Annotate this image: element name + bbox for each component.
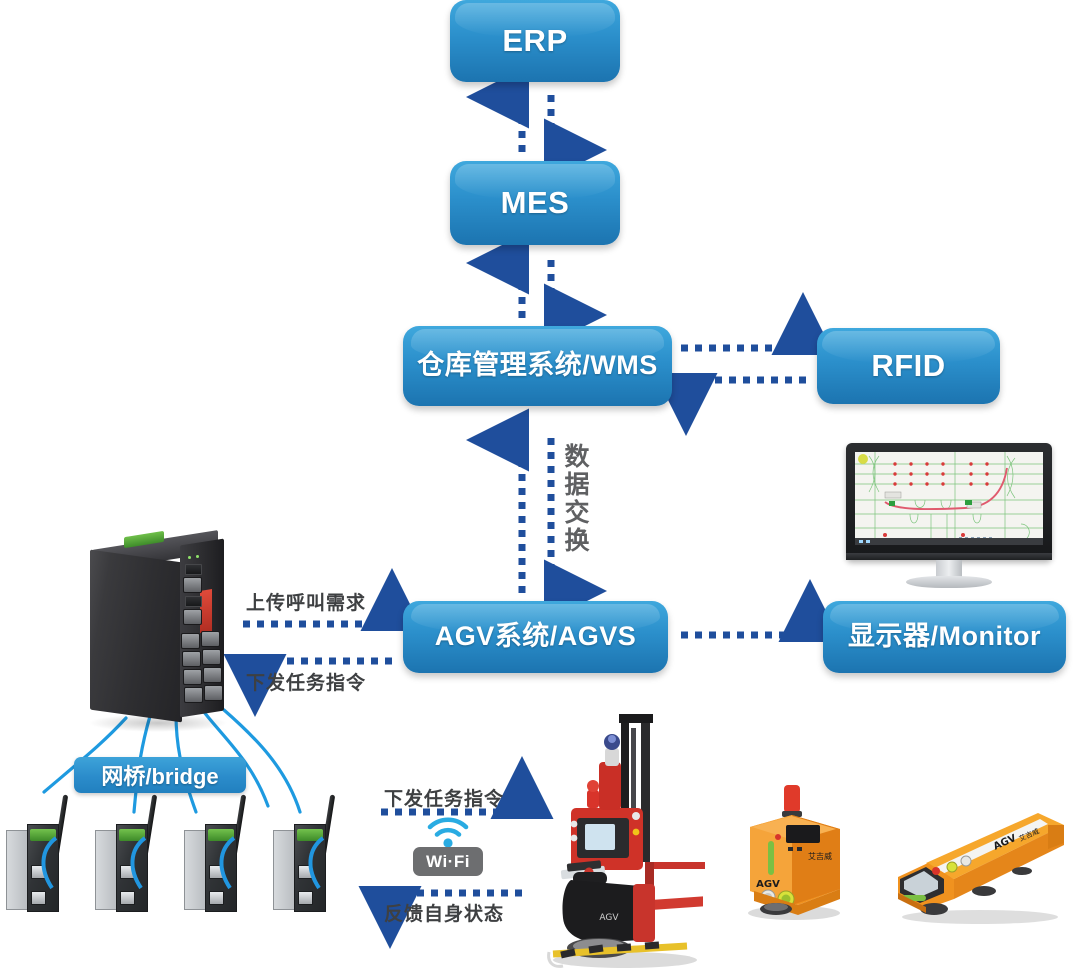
agv-tunnel-vehicle: AGV 艾吉威 bbox=[888, 805, 1068, 925]
node-bridge-label: 网桥/bridge bbox=[101, 759, 218, 791]
agv-tunnel-art: AGV 艾吉威 bbox=[888, 805, 1068, 925]
ap-rj45-2 bbox=[298, 891, 313, 905]
label-dispatch-task-left: 下发任务指令 bbox=[246, 668, 366, 695]
switch-rj45-6 bbox=[203, 667, 222, 683]
switch-rj45-3 bbox=[182, 651, 201, 667]
svg-text:AGV: AGV bbox=[756, 879, 780, 890]
switch-rj45-4 bbox=[202, 649, 221, 665]
wireless-access-point-1 bbox=[6, 818, 64, 910]
switch-rj45-top-2 bbox=[183, 609, 202, 625]
node-erp[interactable]: ERP bbox=[450, 0, 620, 82]
label-upload-call-request: 上传呼叫需求 bbox=[246, 588, 366, 615]
node-wms-label: 仓库管理系统/WMS bbox=[417, 351, 658, 381]
ap-cable bbox=[36, 836, 60, 890]
node-bridge[interactable]: 网桥/bridge bbox=[74, 757, 246, 793]
switch-sfp-port-1 bbox=[185, 564, 202, 575]
switch-status-led-1 bbox=[188, 556, 191, 559]
agv-tug-art: AGV 艾吉威 bbox=[736, 783, 851, 920]
switch-side-panel bbox=[90, 550, 182, 723]
node-rfid[interactable]: RFID bbox=[817, 328, 1000, 404]
monitor-stand-base bbox=[906, 576, 992, 588]
monitor-device bbox=[840, 443, 1058, 593]
switch-rj45-top-1 bbox=[183, 577, 202, 593]
node-mes-label: MES bbox=[501, 186, 570, 220]
label-data-exchange: 数据交换 bbox=[556, 443, 588, 555]
node-agvs-label: AGV系统/AGVS bbox=[435, 622, 637, 652]
node-erp-label: ERP bbox=[502, 24, 567, 58]
wireless-access-point-3 bbox=[184, 818, 242, 910]
wifi-icon bbox=[424, 814, 472, 848]
industrial-switch-device bbox=[82, 534, 232, 724]
svg-text:艾吉威: 艾吉威 bbox=[808, 851, 832, 861]
label-dispatch-task-wifi: 下发任务指令 bbox=[384, 784, 504, 811]
agv-forklift: AGV bbox=[537, 712, 712, 970]
agv-forklift-art: AGV bbox=[537, 712, 712, 970]
ap-rj45-2 bbox=[120, 891, 135, 905]
switch-rj45-8 bbox=[204, 685, 223, 701]
monitor-taskbar bbox=[846, 553, 1052, 560]
node-wms[interactable]: 仓库管理系统/WMS bbox=[403, 326, 672, 406]
ap-rj45-2 bbox=[209, 891, 224, 905]
ap-cable bbox=[303, 836, 327, 890]
ap-rj45-2 bbox=[31, 891, 46, 905]
agv-tug: AGV 艾吉威 bbox=[736, 783, 851, 920]
switch-rj45-2 bbox=[201, 631, 220, 647]
switch-sfp-port-2 bbox=[185, 596, 202, 607]
ap-cable bbox=[125, 836, 149, 890]
switch-rj45-1 bbox=[181, 633, 200, 649]
switch-rj45-5 bbox=[183, 669, 202, 685]
wireless-access-point-2 bbox=[95, 818, 153, 910]
svg-text:AGV: AGV bbox=[599, 913, 619, 923]
switch-rj45-7 bbox=[184, 687, 203, 703]
diagram-canvas: ERP MES 仓库管理系统/WMS RFID AGV系统/AGVS 显示器/M… bbox=[0, 0, 1080, 974]
node-rfid-label: RFID bbox=[871, 349, 945, 383]
wifi-badge: Wi·Fi bbox=[413, 847, 483, 876]
agv-path-map bbox=[855, 452, 1043, 545]
monitor-bezel bbox=[846, 443, 1052, 560]
node-mes[interactable]: MES bbox=[450, 161, 620, 245]
monitor-screen bbox=[855, 452, 1043, 545]
node-monitor[interactable]: 显示器/Monitor bbox=[823, 601, 1066, 673]
wireless-access-point-4 bbox=[273, 818, 331, 910]
node-agvs[interactable]: AGV系统/AGVS bbox=[403, 601, 668, 673]
ap-cable bbox=[214, 836, 238, 890]
wifi-badge-label: Wi·Fi bbox=[426, 852, 470, 872]
switch-status-led-2 bbox=[196, 555, 199, 558]
node-monitor-label: 显示器/Monitor bbox=[848, 622, 1041, 652]
label-feedback-own-status: 反馈自身状态 bbox=[384, 899, 504, 926]
